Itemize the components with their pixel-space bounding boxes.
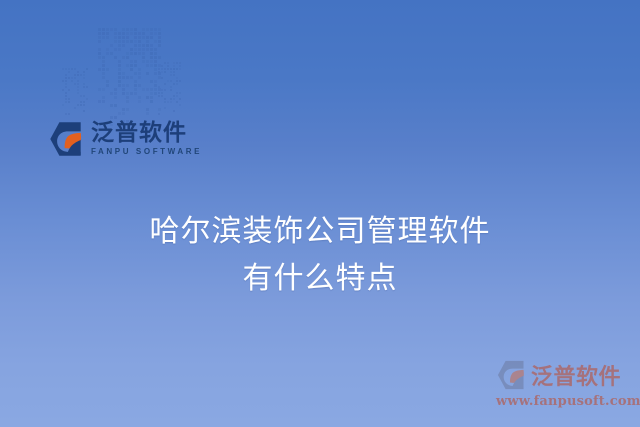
brand-name-cn: 泛普软件 bbox=[91, 122, 202, 145]
watermark: 泛普软件 www.fanpusoft.com bbox=[496, 357, 636, 419]
brand-wordmark: 泛普软件 FANPU SOFTWARE bbox=[91, 122, 202, 156]
brand-logo: 泛普软件 FANPU SOFTWARE bbox=[48, 118, 188, 160]
fanpu-hexagon-swoosh-icon bbox=[496, 359, 528, 391]
page-title: 哈尔滨装饰公司管理软件 有什么特点 bbox=[0, 208, 640, 302]
page-title-line-1: 哈尔滨装饰公司管理软件 bbox=[0, 208, 640, 255]
watermark-name-cn: 泛普软件 bbox=[531, 359, 621, 391]
watermark-logo-row: 泛普软件 bbox=[496, 357, 636, 393]
pixel-buildings-pattern-icon bbox=[62, 28, 184, 126]
slide-canvas: 泛普软件 FANPU SOFTWARE 哈尔滨装饰公司管理软件 有什么特点 泛普… bbox=[0, 0, 640, 427]
watermark-url: www.fanpusoft.com bbox=[496, 394, 636, 409]
page-title-line-2: 有什么特点 bbox=[0, 255, 640, 302]
fanpu-hexagon-swoosh-icon bbox=[48, 120, 86, 158]
brand-name-en: FANPU SOFTWARE bbox=[91, 148, 202, 156]
